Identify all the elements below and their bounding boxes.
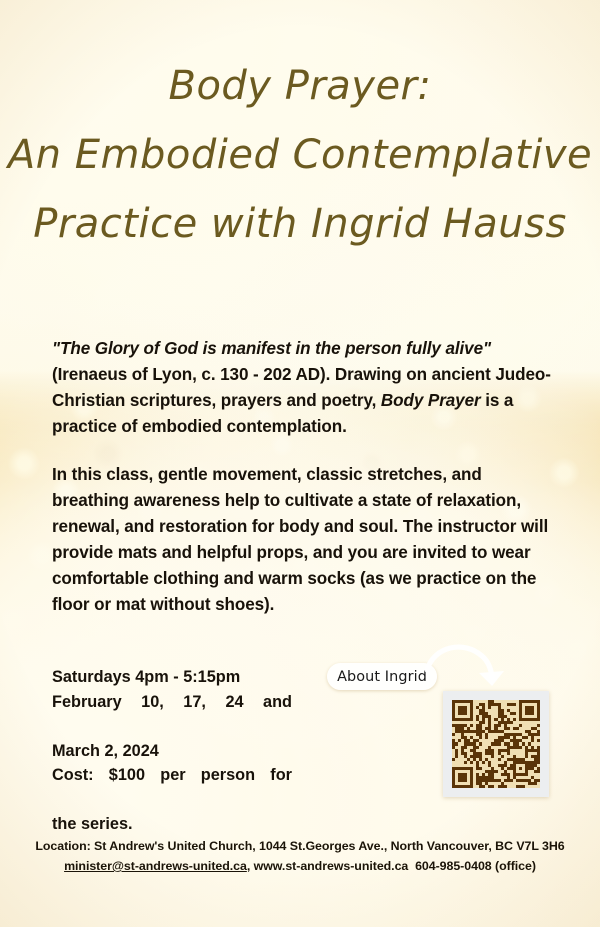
detail-dates-mar: March 2, 2024 bbox=[52, 739, 292, 764]
body-prayer-term: Body Prayer bbox=[381, 391, 481, 410]
description-paragraph-2: In this class, gentle movement, classic … bbox=[52, 462, 562, 618]
title-line-1: Body Prayer: bbox=[0, 52, 600, 121]
footer-email-link[interactable]: minister@st-andrews-united.ca bbox=[64, 859, 247, 873]
poster-content: Body Prayer: An Embodied Contemplative P… bbox=[0, 0, 600, 927]
poster: Body Prayer: An Embodied Contemplative P… bbox=[0, 0, 600, 927]
footer-contact-line: minister@st-andrews-united.ca, www.st-an… bbox=[0, 856, 600, 876]
quote-text: "The Glory of God is manifest in the per… bbox=[52, 339, 491, 358]
footer-separator: , bbox=[247, 859, 254, 873]
footer-contact: Location: St Andrew's United Church, 104… bbox=[0, 836, 600, 876]
detail-dates-feb: February 10, 17, 24 and bbox=[52, 690, 292, 739]
footer-phone: 604-985-0408 (office) bbox=[415, 859, 536, 873]
schedule-details: Saturdays 4pm - 5:15pm February 10, 17, … bbox=[52, 665, 292, 837]
page-title: Body Prayer: An Embodied Contemplative P… bbox=[0, 52, 600, 259]
qr-code-frame[interactable] bbox=[443, 691, 549, 797]
footer-location: Location: St Andrew's United Church, 104… bbox=[0, 836, 600, 856]
about-ingrid-button[interactable]: About Ingrid bbox=[327, 663, 437, 690]
description-paragraph-1: "The Glory of God is manifest in the per… bbox=[52, 336, 562, 440]
detail-time: Saturdays 4pm - 5:15pm bbox=[52, 665, 292, 690]
detail-cost: Cost: $100 per person for bbox=[52, 763, 292, 812]
title-line-2: An Embodied Contemplative bbox=[0, 121, 600, 190]
title-line-3: Practice with Ingrid Hauss bbox=[0, 190, 600, 259]
footer-website-link[interactable]: www.st-andrews-united.ca bbox=[254, 859, 409, 873]
qr-code[interactable] bbox=[452, 700, 540, 788]
detail-cost-tail: the series. bbox=[52, 812, 292, 837]
